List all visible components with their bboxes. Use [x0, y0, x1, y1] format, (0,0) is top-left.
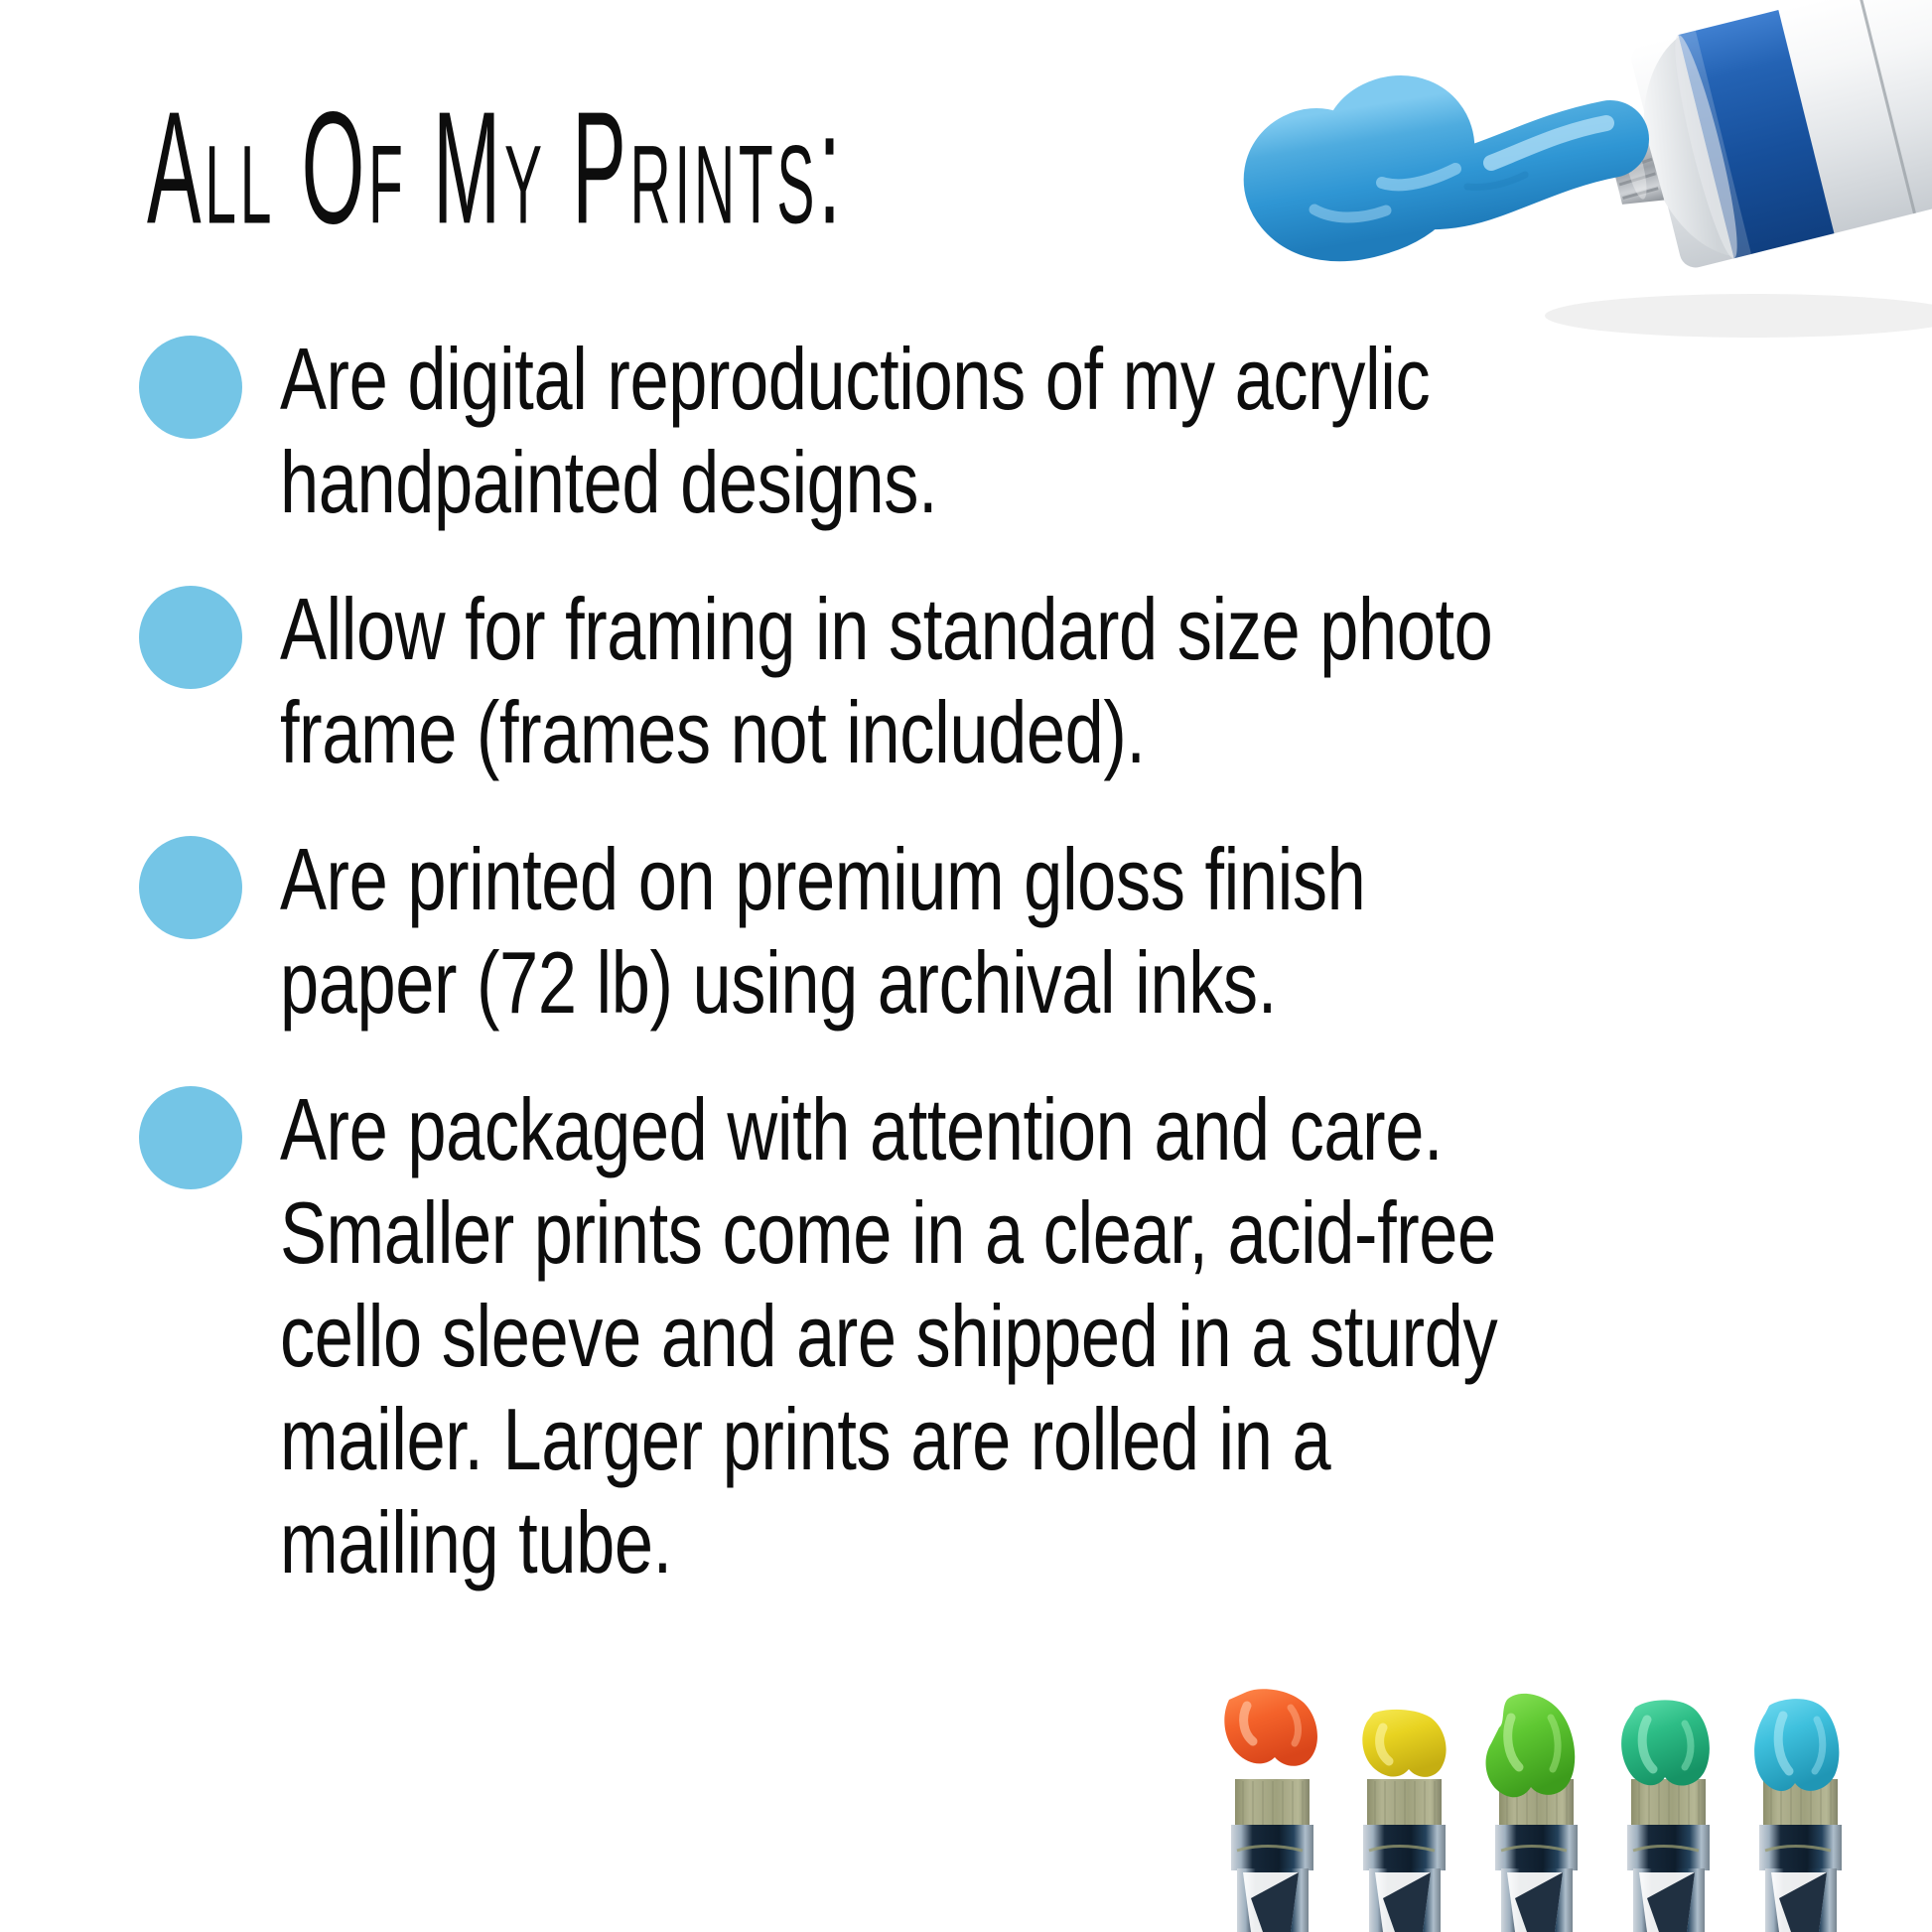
list-item: Are printed on premium gloss finish pape… — [139, 828, 1827, 1035]
paintbrush-yellow — [1362, 1710, 1446, 1932]
paint-tube-illustration — [1058, 0, 1932, 357]
paintbrush-green — [1486, 1694, 1578, 1932]
page-title: All Of My Prints: — [147, 77, 824, 259]
paintbrush-teal — [1621, 1700, 1710, 1932]
paint-tube-icon — [1058, 0, 1932, 357]
paintbrush-cyan — [1754, 1699, 1842, 1932]
blue-paint-squiggle — [1283, 114, 1610, 222]
bullet-dot-icon — [139, 1086, 242, 1189]
list-item: Are digital reproductions of my acrylic … — [139, 328, 1827, 534]
list-item: Allow for framing in standard size photo… — [139, 578, 1827, 784]
bullet-dot-icon — [139, 836, 242, 939]
paintbrush-orange — [1224, 1689, 1317, 1932]
list-item: Are packaged with attention and care. Sm… — [139, 1078, 1827, 1594]
paintbrushes-illustration — [1207, 1684, 1932, 1932]
list-item-text: Are packaged with attention and care. Sm… — [280, 1078, 1517, 1594]
list-item-text: Are digital reproductions of my acrylic … — [280, 328, 1517, 534]
list-item-text: Allow for framing in standard size photo… — [280, 578, 1517, 784]
bullet-dot-icon — [139, 586, 242, 689]
print-info-graphic: All Of My Prints: — [0, 0, 1932, 1932]
bullet-dot-icon — [139, 336, 242, 439]
list-item-text: Are printed on premium gloss finish pape… — [280, 828, 1517, 1035]
paintbrushes-icon — [1207, 1684, 1932, 1932]
features-list: Are digital reproductions of my acrylic … — [139, 328, 1827, 1638]
